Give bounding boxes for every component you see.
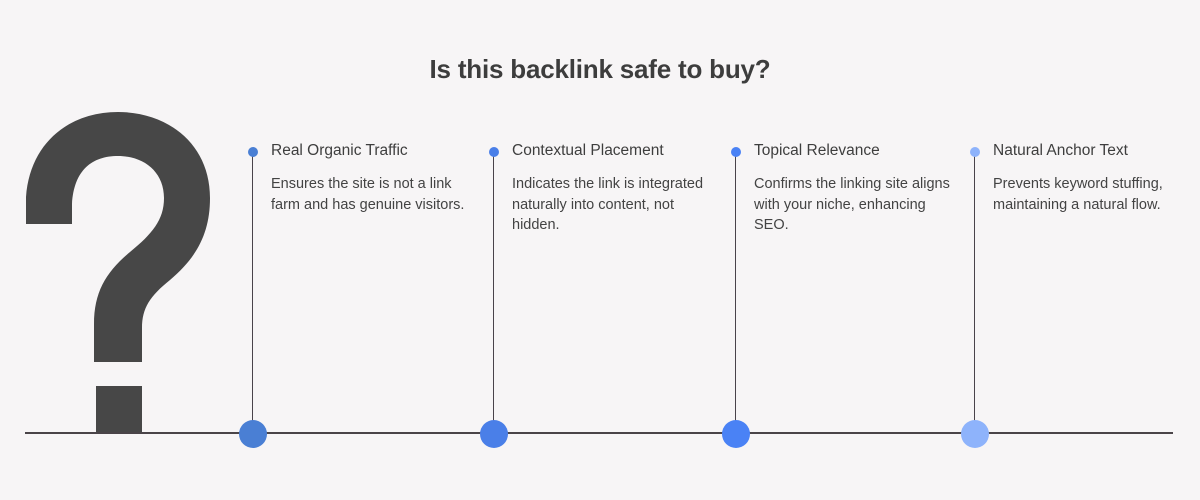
- question-mark-icon: [18, 112, 218, 434]
- top-marker-dot: [248, 147, 258, 157]
- axis-marker-dot: [961, 420, 989, 448]
- timeline-item-3: Topical Relevance Confirms the linking s…: [735, 143, 975, 443]
- timeline-item-2: Contextual Placement Indicates the link …: [493, 143, 733, 443]
- timeline-item-4: Natural Anchor Text Prevents keyword stu…: [974, 143, 1200, 443]
- axis-marker-dot: [480, 420, 508, 448]
- axis-marker-dot: [722, 420, 750, 448]
- item-description: Prevents keyword stuffing, maintaining a…: [993, 174, 1189, 215]
- connector-line: [252, 153, 253, 433]
- connector-line: [974, 153, 975, 433]
- timeline-item-1: Real Organic Traffic Ensures the site is…: [252, 143, 492, 443]
- item-description: Ensures the site is not a link farm and …: [271, 174, 467, 215]
- item-heading: Real Organic Traffic: [271, 141, 408, 161]
- connector-line: [735, 153, 736, 433]
- item-description: Confirms the linking site aligns with yo…: [754, 174, 950, 236]
- item-heading: Topical Relevance: [754, 141, 880, 161]
- item-description: Indicates the link is integrated natural…: [512, 174, 708, 236]
- top-marker-dot: [731, 147, 741, 157]
- infographic-canvas: Is this backlink safe to buy? Real Organ…: [0, 0, 1200, 500]
- top-marker-dot: [489, 147, 499, 157]
- item-heading: Natural Anchor Text: [993, 141, 1128, 161]
- connector-line: [493, 153, 494, 433]
- axis-marker-dot: [239, 420, 267, 448]
- page-title: Is this backlink safe to buy?: [0, 52, 1200, 86]
- item-heading: Contextual Placement: [512, 141, 664, 161]
- top-marker-dot: [970, 147, 980, 157]
